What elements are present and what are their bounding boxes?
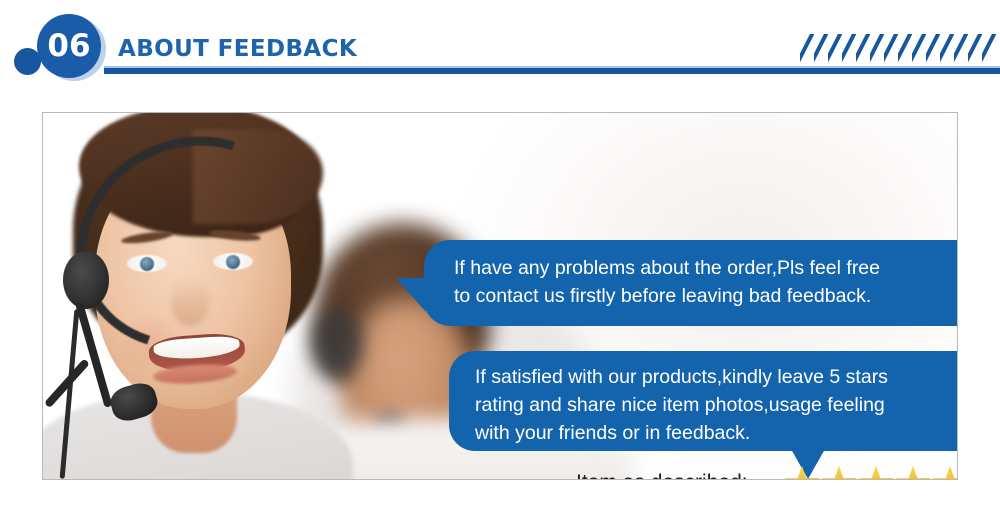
star-icon: [784, 466, 820, 480]
stripe-icon: [842, 34, 856, 64]
feedback-bubble-problems: If have any problems about the order,Pls…: [424, 240, 957, 326]
stripe-icon: [884, 34, 898, 64]
rating-label: Item as described:: [576, 471, 784, 479]
star-icon: [821, 466, 857, 480]
stripe-icon: [814, 34, 828, 64]
header-rule-bold: [104, 68, 1000, 74]
section-number-label: 06: [47, 31, 90, 62]
bubble-text-line: with your friends or in feedback.: [475, 419, 957, 447]
rating-list: Item as described: Communication:: [576, 461, 957, 479]
stripe-icon: [954, 34, 968, 64]
stripe-icon: [940, 34, 954, 64]
bubble-text-line: If have any problems about the order,Pls…: [454, 254, 957, 282]
stripe-icon: [926, 34, 940, 64]
section-number-badge: 06: [37, 14, 101, 78]
stripe-icon: [968, 34, 982, 64]
headset-earcup-icon: [63, 251, 109, 309]
feedback-photo-panel: If have any problems about the order,Pls…: [42, 112, 958, 480]
page-header: 06 ABOUT FEEDBACK: [0, 0, 1000, 95]
star-icon: [858, 466, 894, 480]
rating-stars: [784, 466, 957, 480]
bubble-text-line: rating and share nice item photos,usage …: [475, 391, 957, 419]
feedback-bubble-satisfied: If satisfied with our products,kindly le…: [449, 351, 957, 451]
star-icon: [895, 466, 931, 480]
stripe-icon: [800, 34, 814, 64]
stripe-icon: [982, 34, 996, 64]
background-agent-headset-icon: [311, 309, 363, 379]
stripe-icon: [828, 34, 842, 64]
bubble-text-line: If satisfied with our products,kindly le…: [475, 363, 957, 391]
bubble-tail-icon: [396, 278, 426, 312]
stripe-icon: [870, 34, 884, 64]
stripe-icon: [898, 34, 912, 64]
rating-row-item-as-described: Item as described:: [576, 461, 957, 479]
bubble-text-line: to contact us firstly before leaving bad…: [454, 282, 957, 310]
customer-service-photo: If have any problems about the order,Pls…: [43, 113, 957, 479]
page-title: ABOUT FEEDBACK: [118, 36, 357, 62]
star-icon: [932, 466, 957, 480]
diagonal-stripes-decoration: [800, 34, 996, 64]
stripe-icon: [912, 34, 926, 64]
stripe-icon: [856, 34, 870, 64]
